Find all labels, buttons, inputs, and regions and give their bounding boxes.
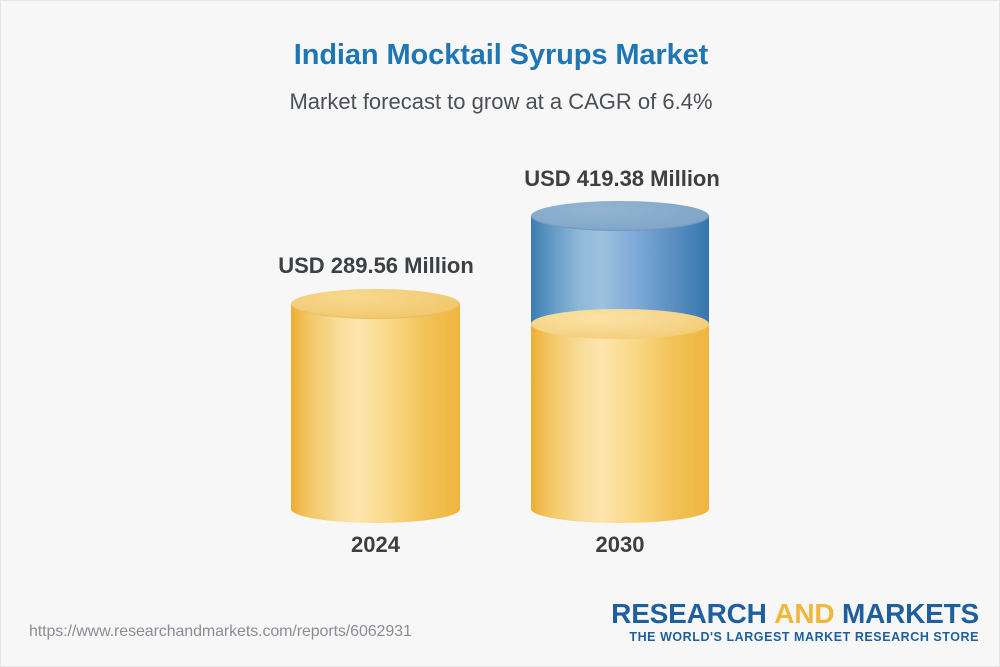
bar-2030-base-segment [531, 324, 709, 509]
logo-tagline: THE WORLD'S LARGEST MARKET RESEARCH STOR… [611, 630, 979, 644]
bar-2024-body [291, 304, 460, 509]
value-label-2024: USD 289.56 Million [266, 253, 486, 279]
infographic-canvas: Indian Mocktail Syrups Market Market for… [0, 0, 1000, 667]
source-url[interactable]: https://www.researchandmarkets.com/repor… [29, 623, 412, 641]
bar-2030-growth-segment [531, 216, 709, 324]
value-label-2030: USD 419.38 Million [510, 166, 734, 192]
bar-2024 [291, 289, 460, 509]
research-and-markets-logo: RESEARCH AND MARKETS THE WORLD'S LARGEST… [611, 599, 979, 644]
bar-2030-top-ellipse [531, 201, 709, 231]
category-label-2030: 2030 [531, 532, 709, 558]
logo-wordmark: RESEARCH AND MARKETS [611, 599, 979, 628]
bar-2030 [531, 201, 709, 509]
logo-word-markets: MARKETS [842, 598, 979, 629]
bar-2030-base-top-ellipse [531, 309, 709, 339]
logo-word-and: AND [774, 598, 834, 629]
page-title: Indian Mocktail Syrups Market [1, 39, 1000, 72]
category-label-2024: 2024 [291, 532, 460, 558]
bar-2024-top-ellipse [291, 289, 460, 319]
logo-word-research: RESEARCH [611, 598, 767, 629]
page-subtitle: Market forecast to grow at a CAGR of 6.4… [1, 89, 1000, 115]
